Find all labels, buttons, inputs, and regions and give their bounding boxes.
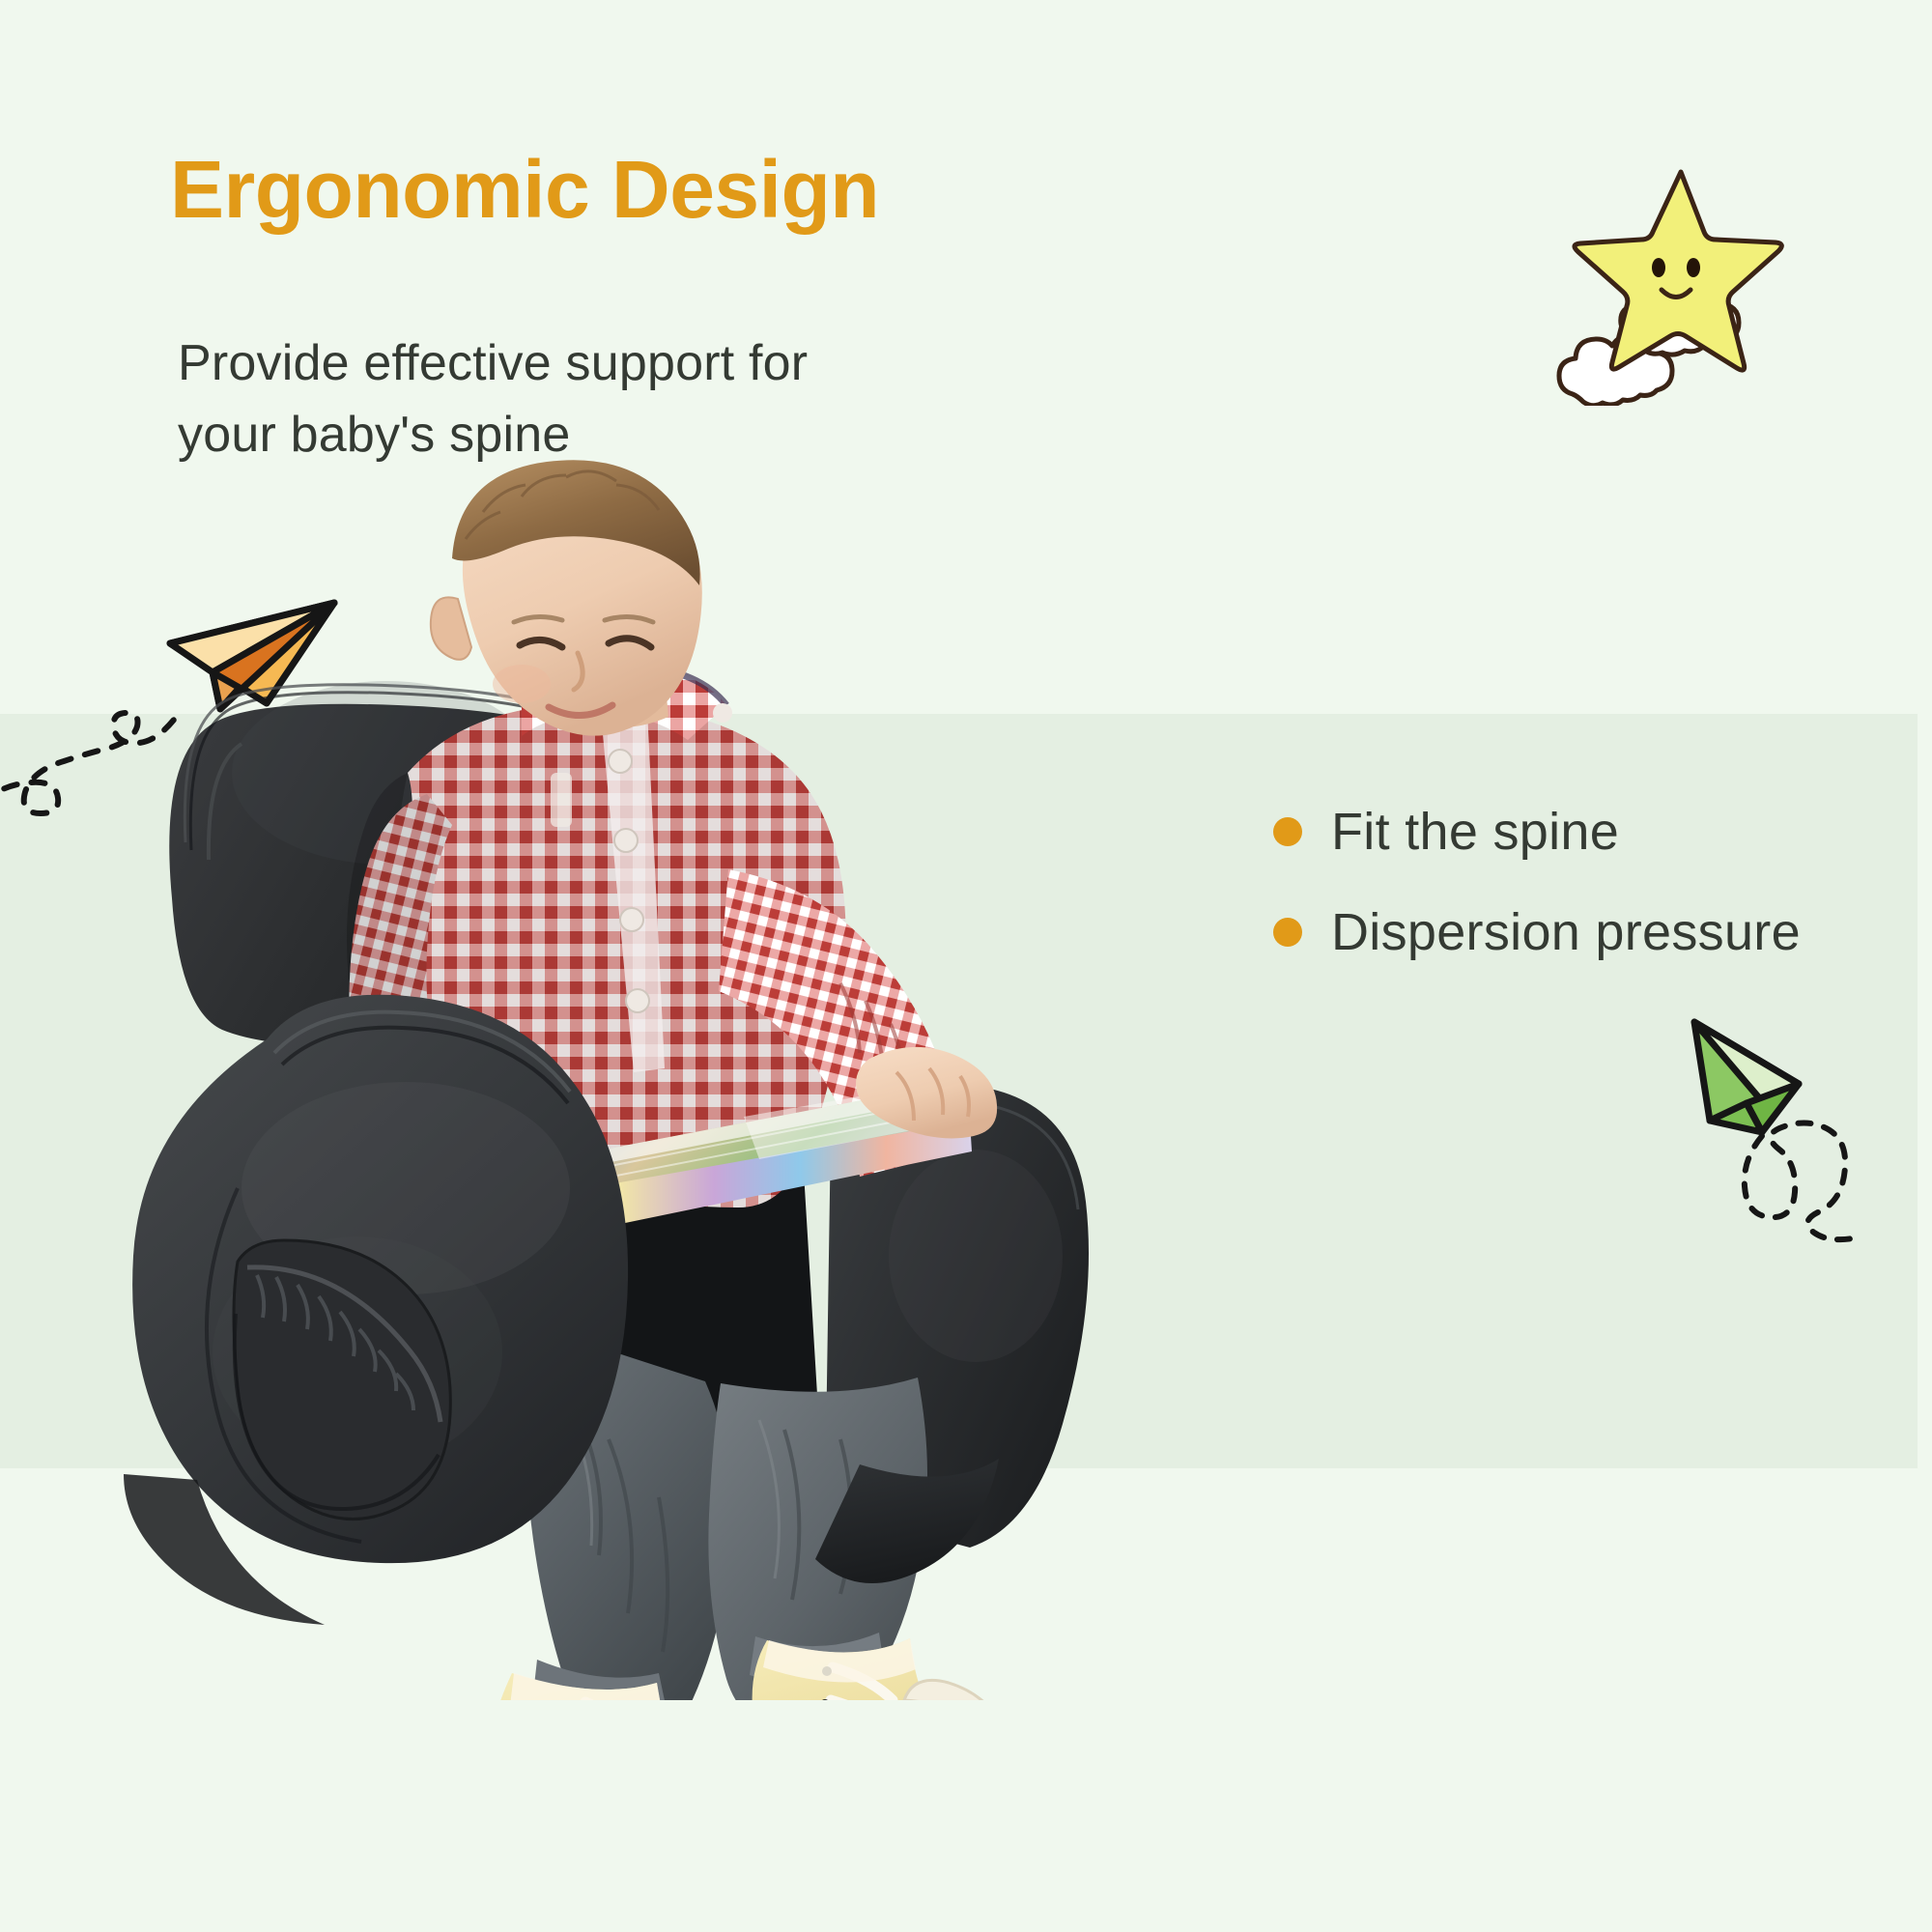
bullet-dot-icon bbox=[1273, 817, 1302, 846]
feature-list: Fit the spine Dispersion pressure bbox=[1273, 802, 1801, 1003]
page-title: Ergonomic Design bbox=[170, 147, 879, 232]
green-paper-plane-icon bbox=[1642, 995, 1932, 1265]
page-subtitle: Provide effective support for your baby'… bbox=[178, 328, 808, 471]
product-photo bbox=[68, 454, 1188, 1700]
list-item: Fit the spine bbox=[1273, 802, 1801, 862]
star-cloud-icon bbox=[1546, 155, 1806, 406]
child-head bbox=[431, 460, 702, 735]
list-item: Dispersion pressure bbox=[1273, 902, 1801, 962]
subtitle-line-1: Provide effective support for bbox=[178, 328, 808, 400]
marketing-banner: Ergonomic Design Provide effective suppo… bbox=[0, 0, 1932, 1932]
feature-label: Dispersion pressure bbox=[1331, 902, 1801, 962]
child-shoe-right bbox=[753, 1638, 1050, 1700]
bullet-dot-icon bbox=[1273, 918, 1302, 947]
feature-label: Fit the spine bbox=[1331, 802, 1619, 862]
